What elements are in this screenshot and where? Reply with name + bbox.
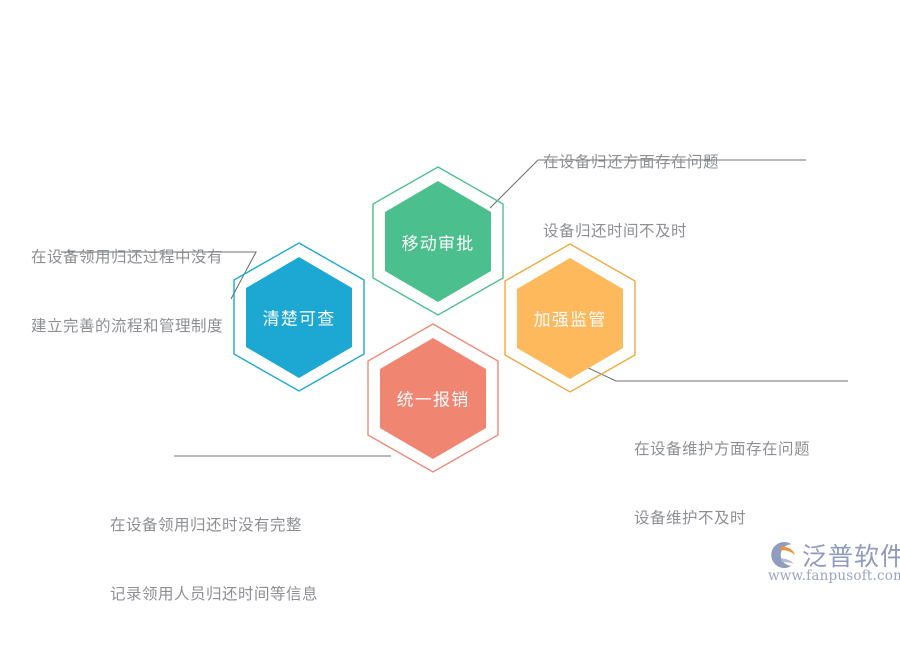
note-maintenance-problem-line1: 在设备维护方面存在问题 [634,438,810,461]
fanpu-logo-icon [766,540,798,570]
hexagon-label-strengthen-supervision: 加强监管 [534,306,607,331]
note-no-process-system-line2: 建立完善的流程和管理制度 [31,315,223,338]
brand-logo[interactable]: 泛普软件 www.fanpusoft.com [766,538,894,588]
note-maintenance-problem-line2: 设备维护不及时 [634,507,810,530]
note-incomplete-record-line1: 在设备领用归还时没有完整 [110,514,318,537]
note-return-problem-line1: 在设备归还方面存在问题 [543,151,719,174]
note-incomplete-record-line2: 记录领用人员归还时间等信息 [110,583,318,606]
note-return-problem-line2: 设备归还时间不及时 [543,220,719,243]
hexagon-label-clear-traceable: 清楚可查 [263,305,336,330]
logo-website-url: www.fanpusoft.com [768,568,900,584]
note-return-problem: 在设备归还方面存在问题 设备归还时间不及时 [543,105,719,289]
connector-maintenance-problem [567,358,848,381]
note-no-process-system-line1: 在设备领用归还过程中没有 [31,246,223,269]
hexagon-label-mobile-approval: 移动审批 [402,230,475,255]
note-incomplete-record: 在设备领用归还时没有完整 记录领用人员归还时间等信息 [110,468,318,652]
diagram-canvas: 移动审批 清楚可查 加强监管 统一报销 在设备归还方面存在问题 设备归还时间不及… [0,0,900,600]
note-no-process-system: 在设备领用归还过程中没有 建立完善的流程和管理制度 [31,200,223,384]
hexagon-label-unified-reimbursement: 统一报销 [397,386,470,411]
